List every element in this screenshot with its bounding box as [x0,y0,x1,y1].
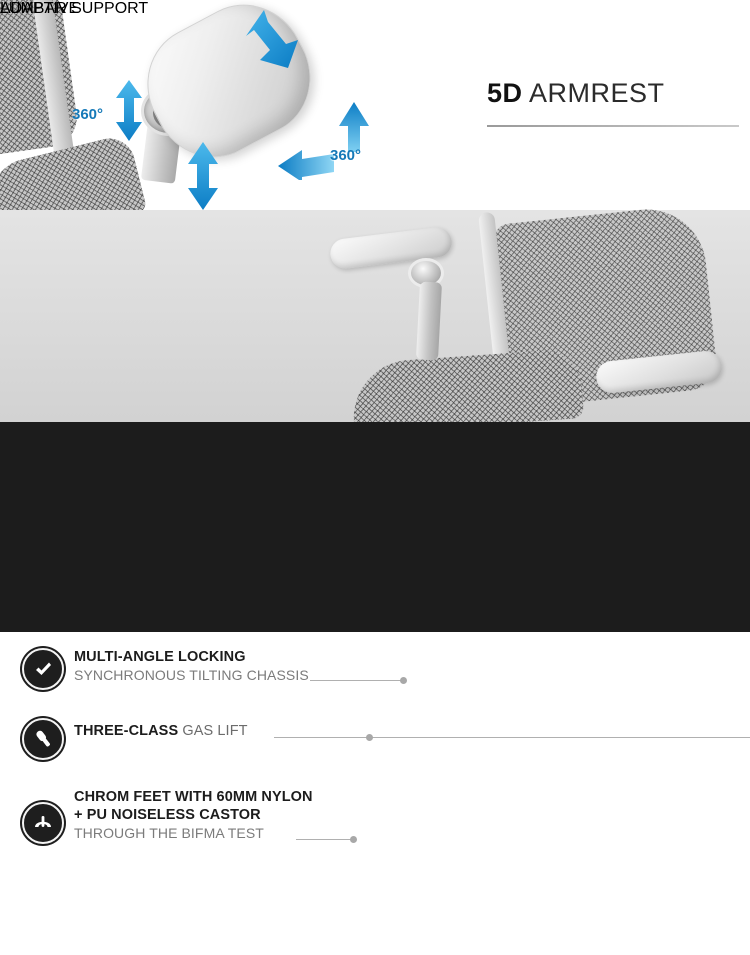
feature-title-line2: + PU NOISELESS CASTOR [74,806,313,824]
panel-chair-frame: gdjinxing.en.alibaba.com THICKENED CHAIR… [0,422,750,632]
arrow-left-icon [276,148,336,180]
leader-line [274,737,750,738]
gas-lift-icon [22,718,64,760]
feature-title: THREE-CLASS GAS LIFT [74,718,248,744]
feature-subtitle: THROUGH THE BIFMA TEST [74,824,313,843]
leader-dot [400,677,407,684]
feature-title-light: GAS LIFT [178,723,247,739]
feature-title-bold: MULTI-ANGLE LOCKING [74,649,246,665]
panel-feature-list: MULTI-ANGLE LOCKING SYNCHRONOUS TILTING … [0,632,750,955]
feature-text-block: CHROM FEET WITH 60MM NYLON + PU NOISELES… [74,788,313,843]
castor-wheel-icon [22,802,64,844]
leader-line [296,839,352,840]
feature-title: CHROM FEET WITH 60MM NYLON [74,788,313,806]
feature-subtitle: SYNCHRONOUS TILTING CHASSIS [74,666,309,685]
feature-title-bold: CHROM FEET WITH 60MM NYLON [74,789,313,805]
armrest-headline-rule [487,125,739,127]
arrow-up-icon [338,100,370,154]
rotation-label-left: 360° [72,106,103,123]
double-arrow-diagonal-icon [238,6,316,82]
check-circle-icon [22,648,64,690]
armrest-headline: 5D ARMREST [487,78,665,109]
double-arrow-vertical-large-icon [186,140,220,210]
lumbar-headline-line2: LUMBAR SUPPORT [0,0,148,18]
armrest-headline-rest: ARMREST [523,78,665,108]
product-infographic: 360° 360° 5D ARMREST ADAPTIVE LUMBAR SUP… [0,0,750,955]
leader-line [310,680,402,681]
leader-dot [350,836,357,843]
armrest-headline-bold: 5D [487,78,523,108]
double-arrow-vertical-icon [112,78,146,144]
rotation-label-right: 360° [330,147,361,164]
feature-title: MULTI-ANGLE LOCKING [74,648,309,666]
leader-dot [366,734,373,741]
panel-armrest: 360° 360° 5D ARMREST [0,0,750,210]
feature-text-block: MULTI-ANGLE LOCKING SYNCHRONOUS TILTING … [74,648,309,685]
feature-text-block: THREE-CLASS GAS LIFT [74,718,248,744]
feature-title-bold: THREE-CLASS [74,723,178,739]
lumbar-armrest-stem [416,281,442,360]
